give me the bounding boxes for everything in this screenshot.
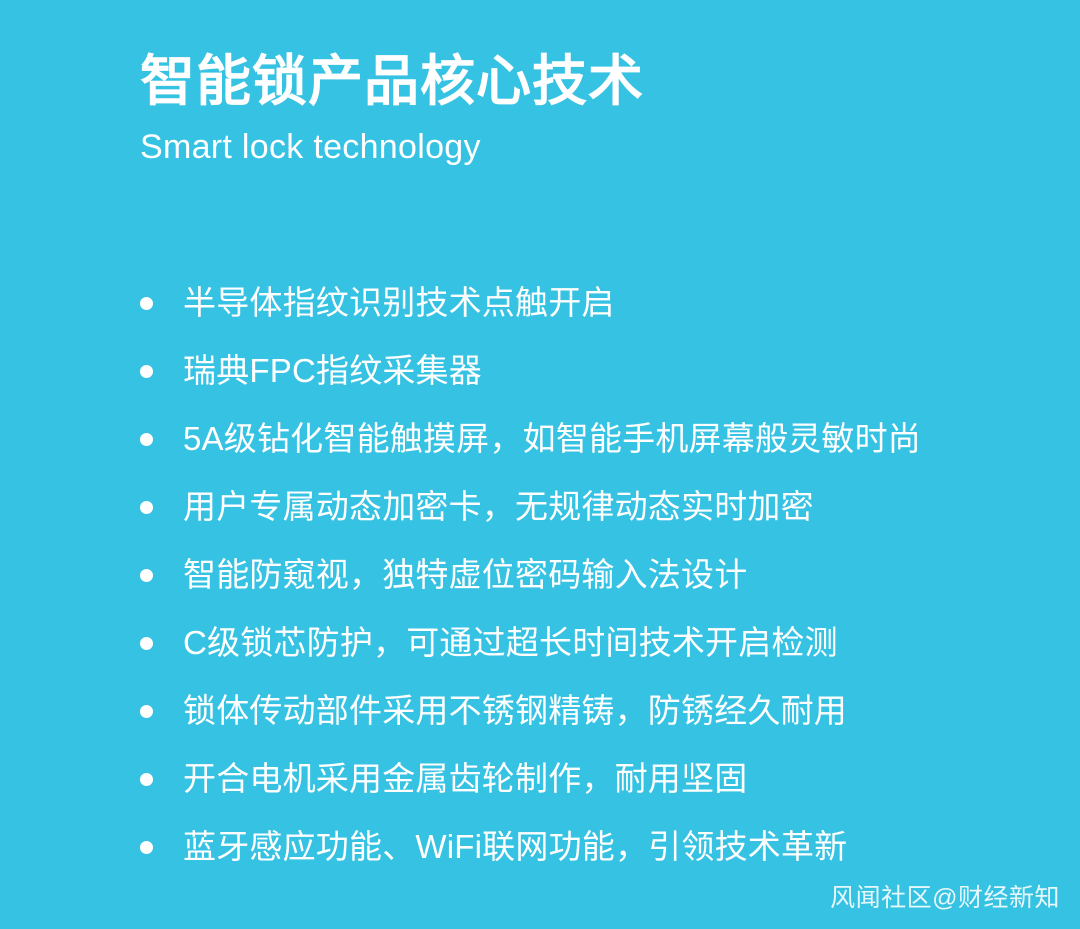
bullet-dot-icon: [140, 773, 153, 786]
bullet-dot-icon: [140, 637, 153, 650]
list-item: 智能防窥视，独特虚位密码输入法设计: [140, 541, 1050, 609]
watermark: 风闻社区@财经新知: [830, 883, 1060, 913]
feature-list: 半导体指纹识别技术点触开启 瑞典FPC指纹采集器 5A级钻化智能触摸屏，如智能手…: [140, 269, 1050, 881]
list-item: 开合电机采用金属齿轮制作，耐用坚固: [140, 745, 1050, 813]
list-item: C级锁芯防护，可通过超长时间技术开启检测: [140, 609, 1050, 677]
feature-text: 智能防窥视，独特虚位密码输入法设计: [183, 555, 1050, 595]
bullet-dot-icon: [140, 365, 153, 378]
list-item: 瑞典FPC指纹采集器: [140, 337, 1050, 405]
heading-block: 智能锁产品核心技术 Smart lock technology: [140, 52, 1020, 168]
feature-text: 半导体指纹识别技术点触开启: [183, 283, 1050, 323]
list-item: 5A级钻化智能触摸屏，如智能手机屏幕般灵敏时尚: [140, 405, 1050, 473]
page-title: 智能锁产品核心技术: [140, 52, 1020, 111]
feature-text: 锁体传动部件采用不锈钢精铸，防锈经久耐用: [183, 691, 1050, 731]
feature-text: 用户专属动态加密卡，无规律动态实时加密: [183, 487, 1050, 527]
list-item: 半导体指纹识别技术点触开启: [140, 269, 1050, 337]
bullet-dot-icon: [140, 433, 153, 446]
feature-text: 5A级钻化智能触摸屏，如智能手机屏幕般灵敏时尚: [183, 419, 1050, 459]
feature-text: 瑞典FPC指纹采集器: [183, 351, 1050, 391]
slide-canvas: 智能锁产品核心技术 Smart lock technology 半导体指纹识别技…: [0, 0, 1080, 929]
bullet-dot-icon: [140, 569, 153, 582]
feature-text: 开合电机采用金属齿轮制作，耐用坚固: [183, 759, 1050, 799]
list-item: 蓝牙感应功能、WiFi联网功能，引领技术革新: [140, 813, 1050, 881]
bullet-dot-icon: [140, 297, 153, 310]
bullet-dot-icon: [140, 501, 153, 514]
list-item: 用户专属动态加密卡，无规律动态实时加密: [140, 473, 1050, 541]
list-item: 锁体传动部件采用不锈钢精铸，防锈经久耐用: [140, 677, 1050, 745]
bullet-dot-icon: [140, 841, 153, 854]
bullet-dot-icon: [140, 705, 153, 718]
feature-text: 蓝牙感应功能、WiFi联网功能，引领技术革新: [183, 827, 1050, 867]
page-subtitle: Smart lock technology: [140, 111, 1020, 168]
feature-text: C级锁芯防护，可通过超长时间技术开启检测: [183, 623, 1050, 663]
